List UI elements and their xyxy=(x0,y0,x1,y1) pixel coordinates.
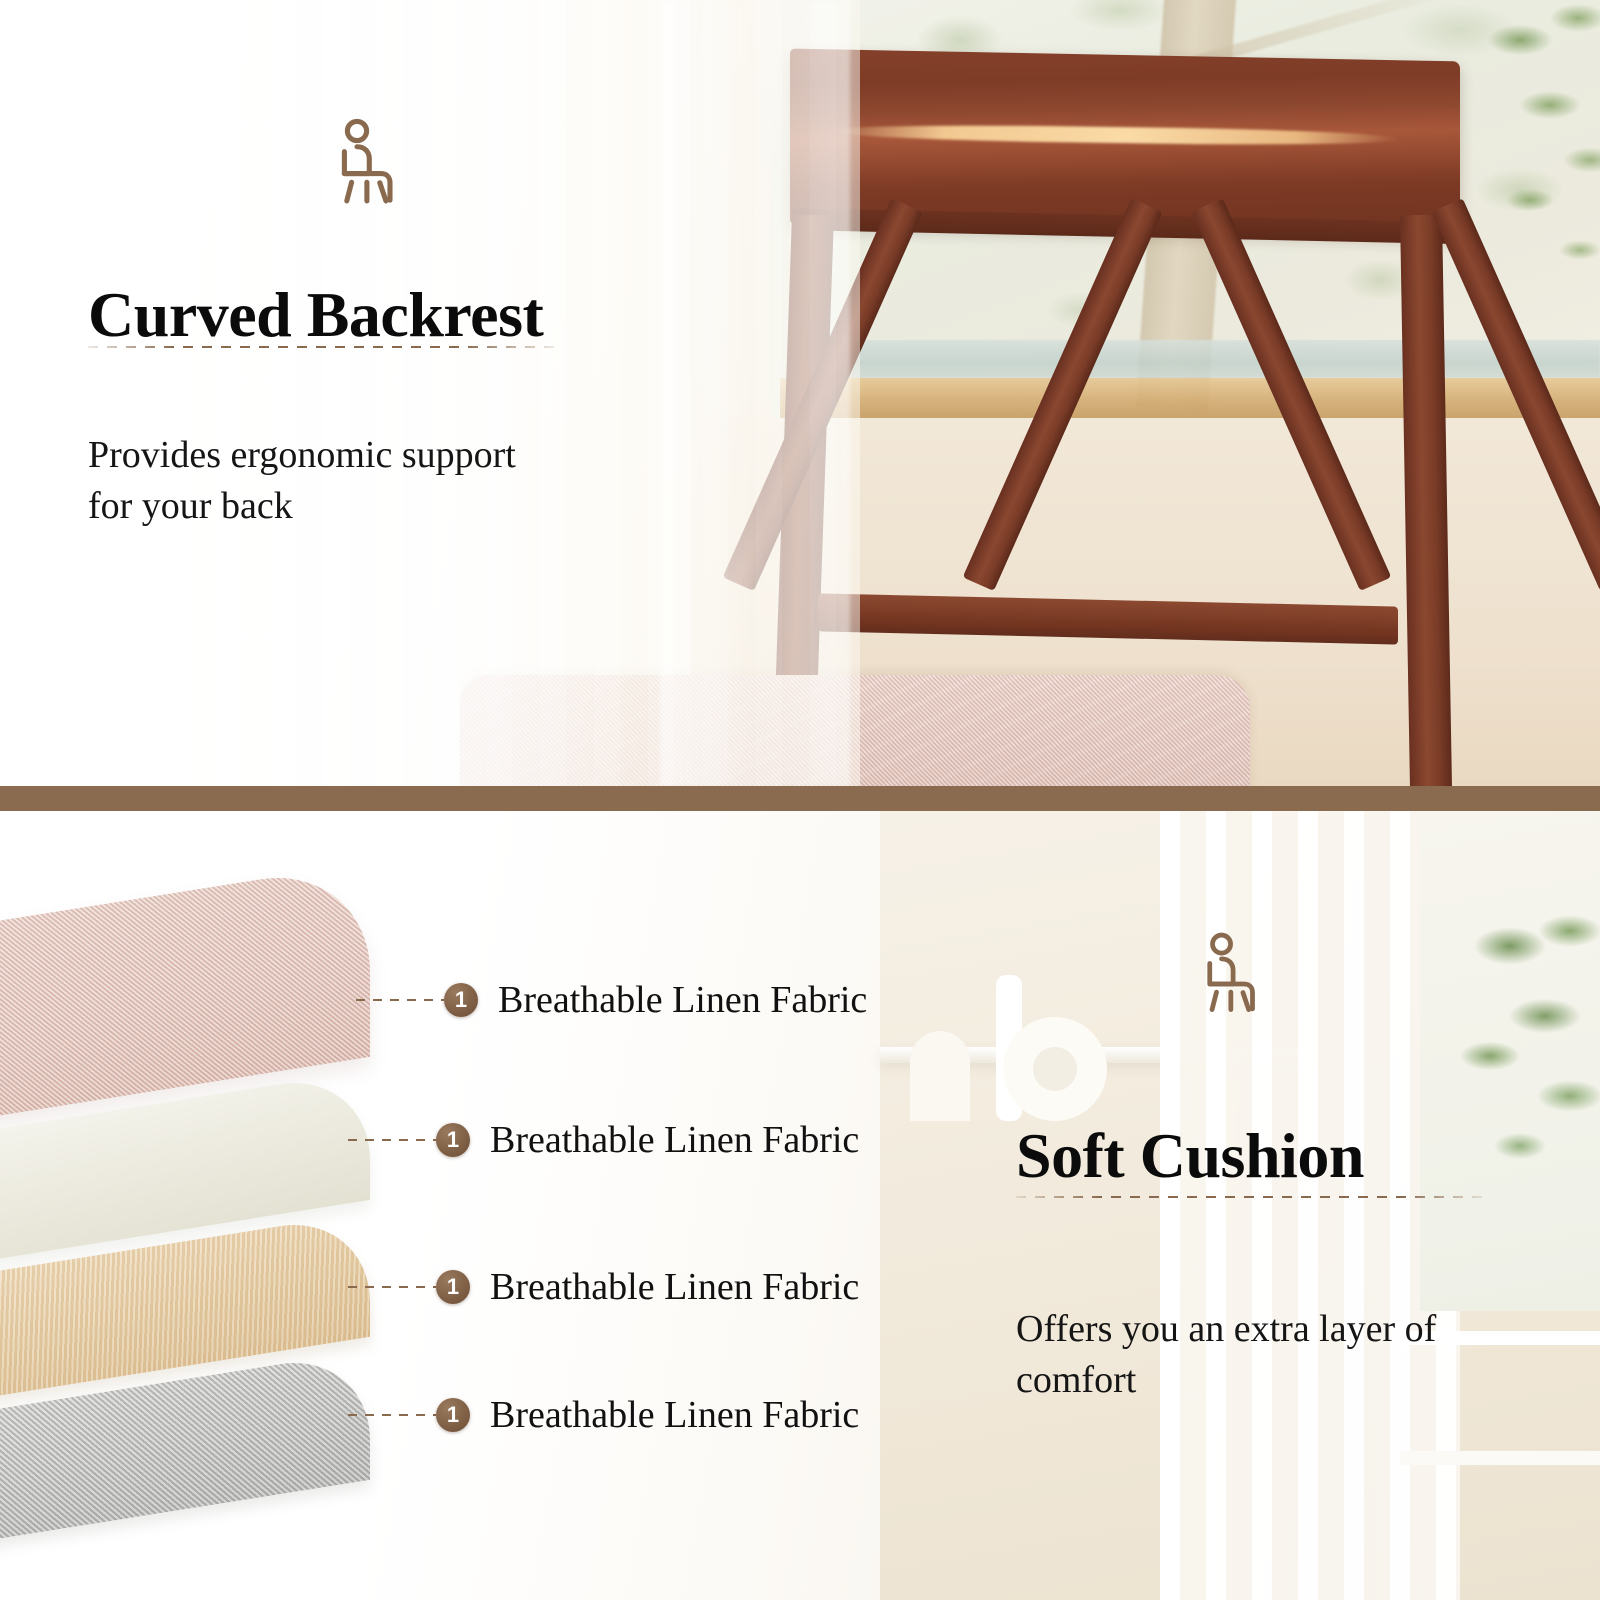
sheer-curtain-fold xyxy=(660,0,850,786)
monstera-plant xyxy=(1450,906,1600,1206)
window-frame-rail-lower xyxy=(1400,1451,1600,1465)
callout-badge-number: 1 xyxy=(436,1123,470,1157)
callout-badge-number: 1 xyxy=(436,1398,470,1432)
title-dashed-divider xyxy=(1016,1196,1486,1198)
chair-stile-right xyxy=(1400,215,1452,786)
leader-line xyxy=(348,1139,436,1141)
callout-label: Breathable Linen Fabric xyxy=(490,1393,859,1437)
person-sitting-on-chair-icon xyxy=(1185,926,1275,1024)
chair-lower-rail xyxy=(818,593,1398,644)
feature-panel-soft-cushion: 1 Breathable Linen Fabric 1 Breathable L… xyxy=(0,811,1600,1600)
ceramic-vase-decor xyxy=(900,961,1170,1121)
callout-label: Breathable Linen Fabric xyxy=(490,1118,859,1162)
layer-callout-2: 1 Breathable Linen Fabric xyxy=(348,1116,859,1164)
feature-description-cushion: Offers you an extra layer of comfort xyxy=(1016,1304,1516,1407)
infographic-page: Curved Backrest Provides ergonomic suppo… xyxy=(0,0,1600,1600)
section-divider-bar xyxy=(0,786,1600,811)
callout-badge-number: 1 xyxy=(444,983,478,1017)
layer-callout-4: 1 Breathable Linen Fabric xyxy=(348,1391,859,1439)
page-title-curved-backrest: Curved Backrest xyxy=(88,278,543,352)
callout-label: Breathable Linen Fabric xyxy=(498,978,867,1022)
leader-line xyxy=(356,999,444,1001)
chair-x-brace-3 xyxy=(963,198,1163,591)
layer-callout-3: 1 Breathable Linen Fabric xyxy=(348,1263,859,1311)
callout-badge-number: 1 xyxy=(436,1270,470,1304)
person-sitting-on-chair-icon xyxy=(318,116,414,212)
feature-panel-curved-backrest: Curved Backrest Provides ergonomic suppo… xyxy=(0,0,1600,786)
page-title-soft-cushion: Soft Cushion xyxy=(1016,1119,1364,1193)
chair-backrest-photo xyxy=(770,55,1470,786)
callout-label: Breathable Linen Fabric xyxy=(490,1265,859,1309)
leader-line xyxy=(348,1414,436,1416)
feature-description-backrest: Provides ergonomic support for your back xyxy=(88,430,558,533)
leader-line xyxy=(348,1286,436,1288)
chair-x-brace-2 xyxy=(1191,198,1391,591)
title-dashed-divider xyxy=(88,346,558,348)
layer-callout-1: 1 Breathable Linen Fabric xyxy=(356,976,867,1024)
